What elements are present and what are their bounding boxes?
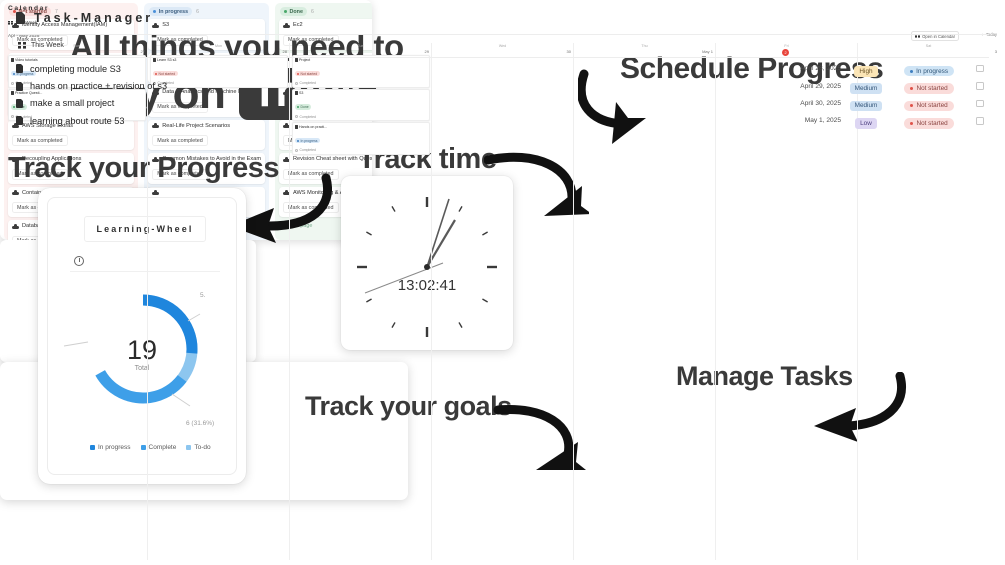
status-badge: In progress bbox=[149, 7, 192, 16]
status-badge: Done bbox=[280, 7, 307, 16]
calendar-day-column[interactable]: Mon28Learn S3 s3Not startedCompleted bbox=[147, 240, 256, 362]
status-dot-icon bbox=[153, 10, 156, 13]
calendar-grid: Sun27Video tutorialsIn progressCompleted… bbox=[6, 240, 256, 362]
kanban-column-header: Done6 bbox=[279, 6, 372, 19]
calendar-day-column[interactable]: Sun27Video tutorialsIn progressCompleted… bbox=[6, 240, 147, 362]
status-label: In progress bbox=[159, 9, 188, 15]
calendar-card[interactable]: Calendar This Week Apr - May 2025 Open i… bbox=[0, 240, 256, 362]
poster-canvas: All things you need to Stay on Track Tra… bbox=[0, 0, 1005, 565]
cloud-icon bbox=[152, 23, 159, 28]
kanban-column-count: 6 bbox=[311, 9, 314, 15]
status-dot-icon bbox=[284, 10, 287, 13]
status-label: Done bbox=[289, 9, 302, 15]
kanban-column-header: In progress6 bbox=[148, 6, 265, 19]
kanban-column-count: 6 bbox=[196, 9, 199, 15]
cloud-icon bbox=[283, 23, 290, 28]
